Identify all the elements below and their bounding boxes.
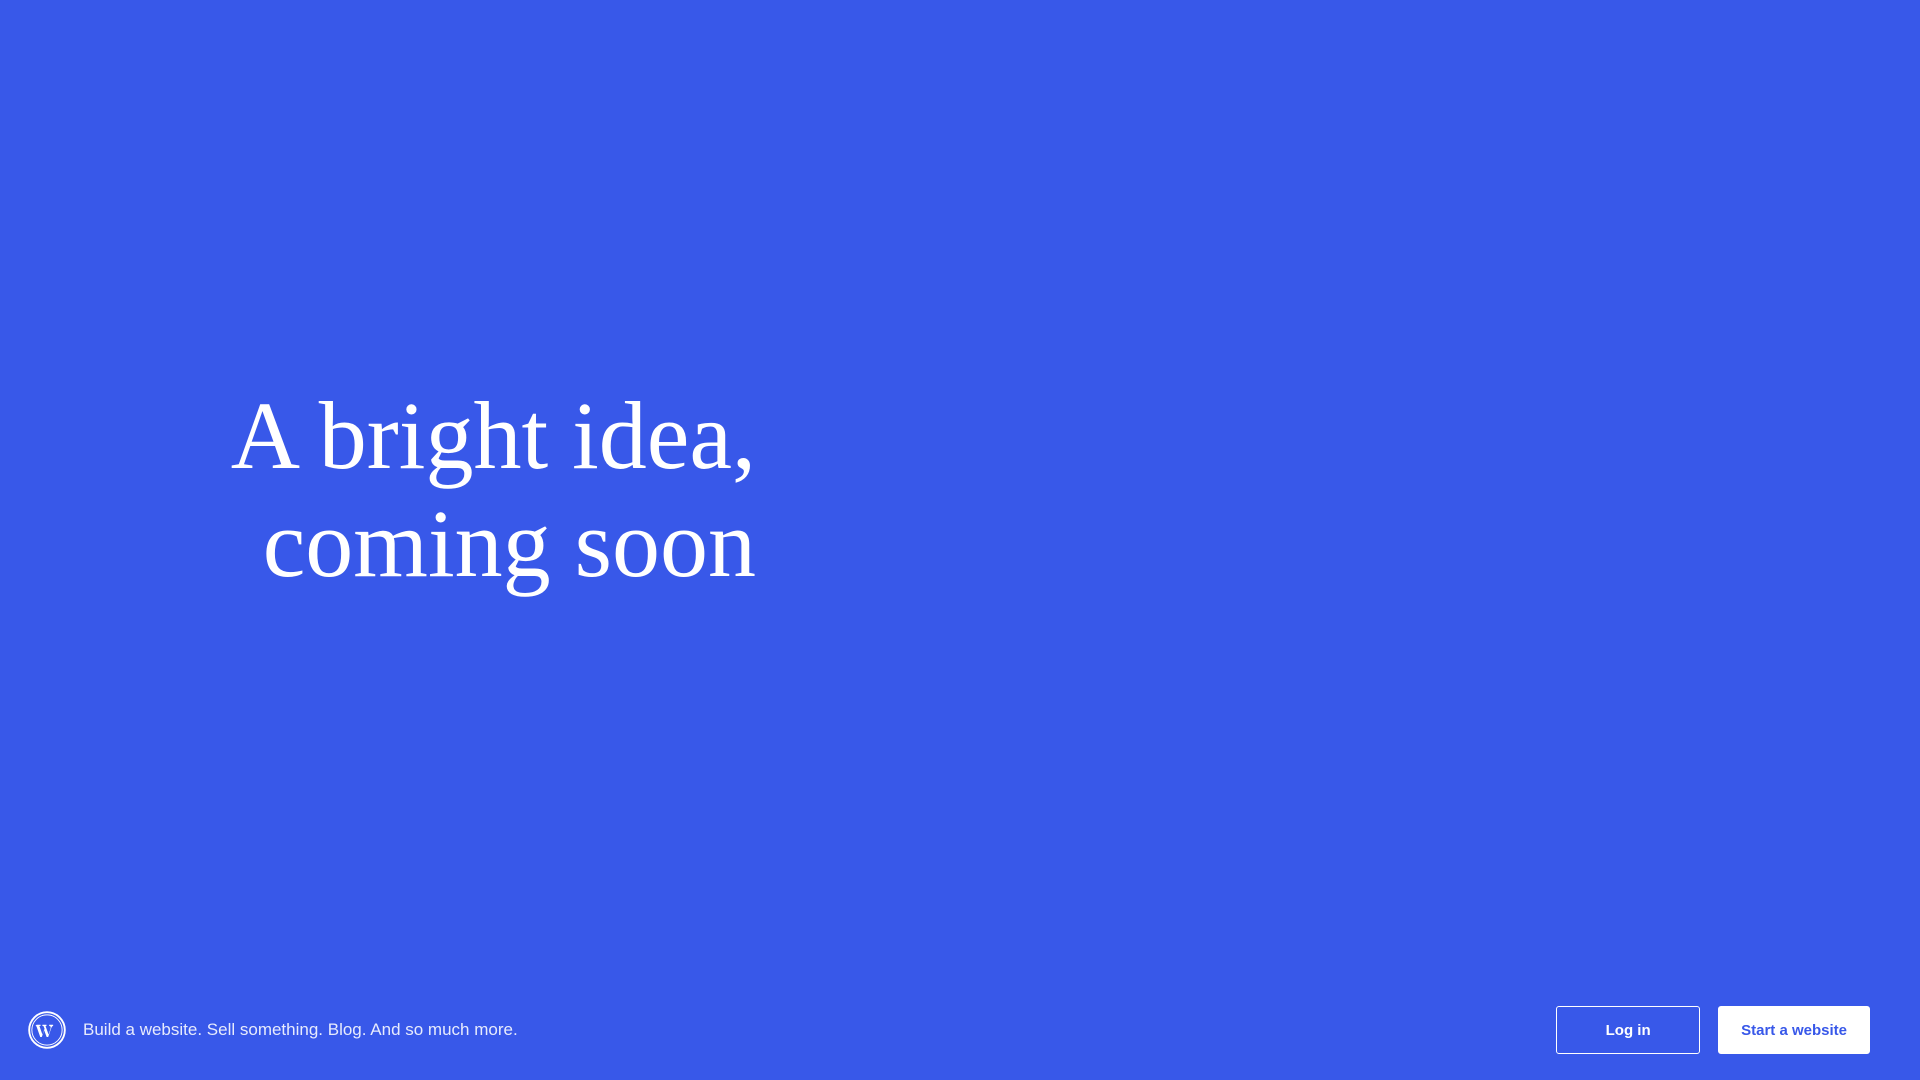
- start-a-website-button[interactable]: Start a website: [1718, 1006, 1870, 1054]
- footer-actions: Log in Start a website: [1556, 1006, 1870, 1054]
- hero-content: A bright idea, coming soon: [0, 382, 790, 599]
- coming-soon-page: A bright idea, coming soon Build a websi…: [0, 0, 1920, 1080]
- footer-branding: Build a website. Sell something. Blog. A…: [28, 1011, 518, 1049]
- footer-tagline: Build a website. Sell something. Blog. A…: [83, 1018, 518, 1042]
- hero-section: A bright idea, coming soon: [0, 0, 1920, 980]
- page-title: A bright idea, coming soon: [60, 382, 790, 599]
- footer-bar: Build a website. Sell something. Blog. A…: [0, 980, 1920, 1080]
- wordpress-logo-icon[interactable]: [28, 1011, 66, 1049]
- login-button[interactable]: Log in: [1556, 1006, 1700, 1054]
